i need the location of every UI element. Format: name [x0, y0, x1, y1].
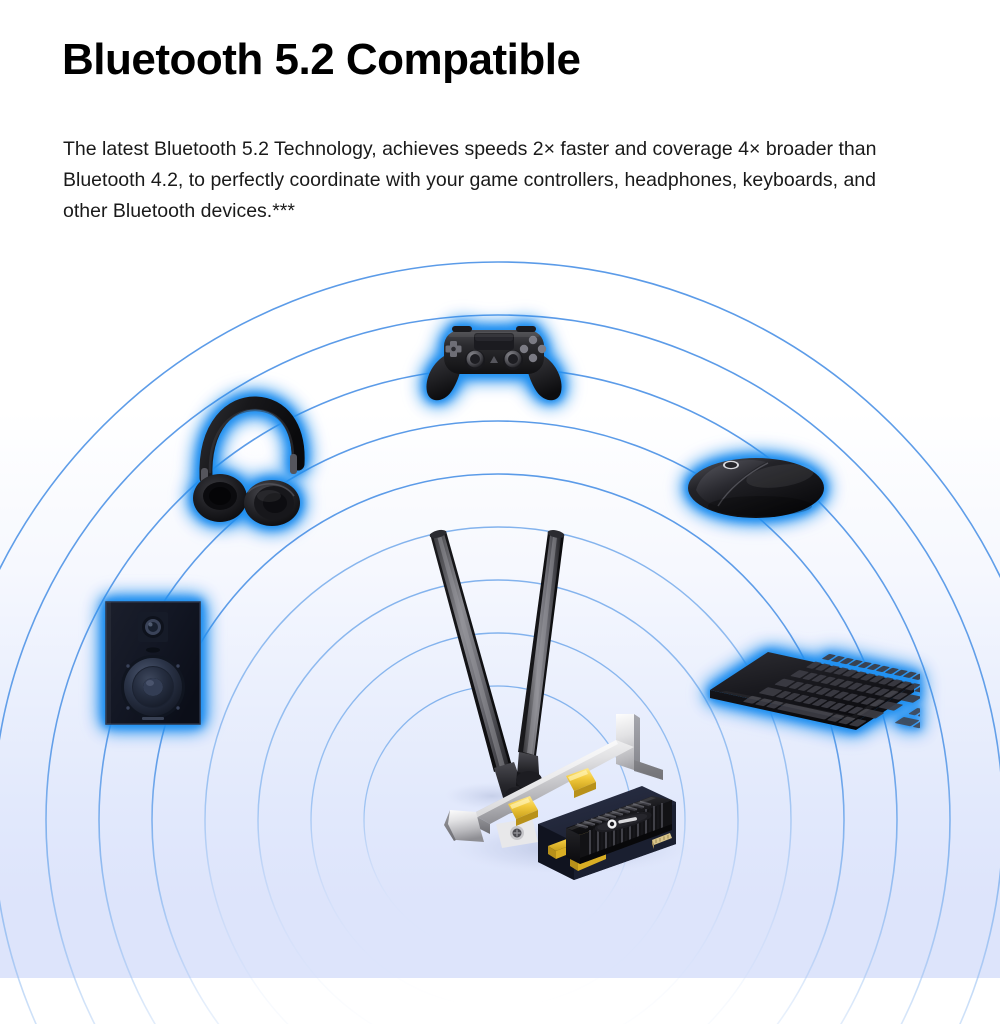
product-feature-graphic: Bluetooth 5.2 Compatible The latest Blue… — [0, 0, 1000, 1024]
product-pcie-adapter-card — [420, 528, 690, 890]
antenna-right — [516, 529, 565, 790]
pcie-wifi-card-illustration — [420, 528, 690, 890]
body-paragraph: The latest Bluetooth 5.2 Technology, ach… — [63, 134, 923, 227]
device-keyboard — [702, 634, 920, 738]
mouse-icon — [684, 444, 828, 524]
device-game-controller — [418, 316, 570, 402]
device-mouse — [684, 444, 828, 524]
speaker-icon — [104, 600, 202, 726]
keyboard-icon — [702, 634, 920, 738]
device-headphones — [190, 392, 312, 526]
page-title: Bluetooth 5.2 Compatible — [62, 33, 580, 87]
device-speaker — [104, 600, 202, 726]
headphones-icon — [190, 392, 312, 526]
game-controller-icon — [418, 316, 570, 402]
